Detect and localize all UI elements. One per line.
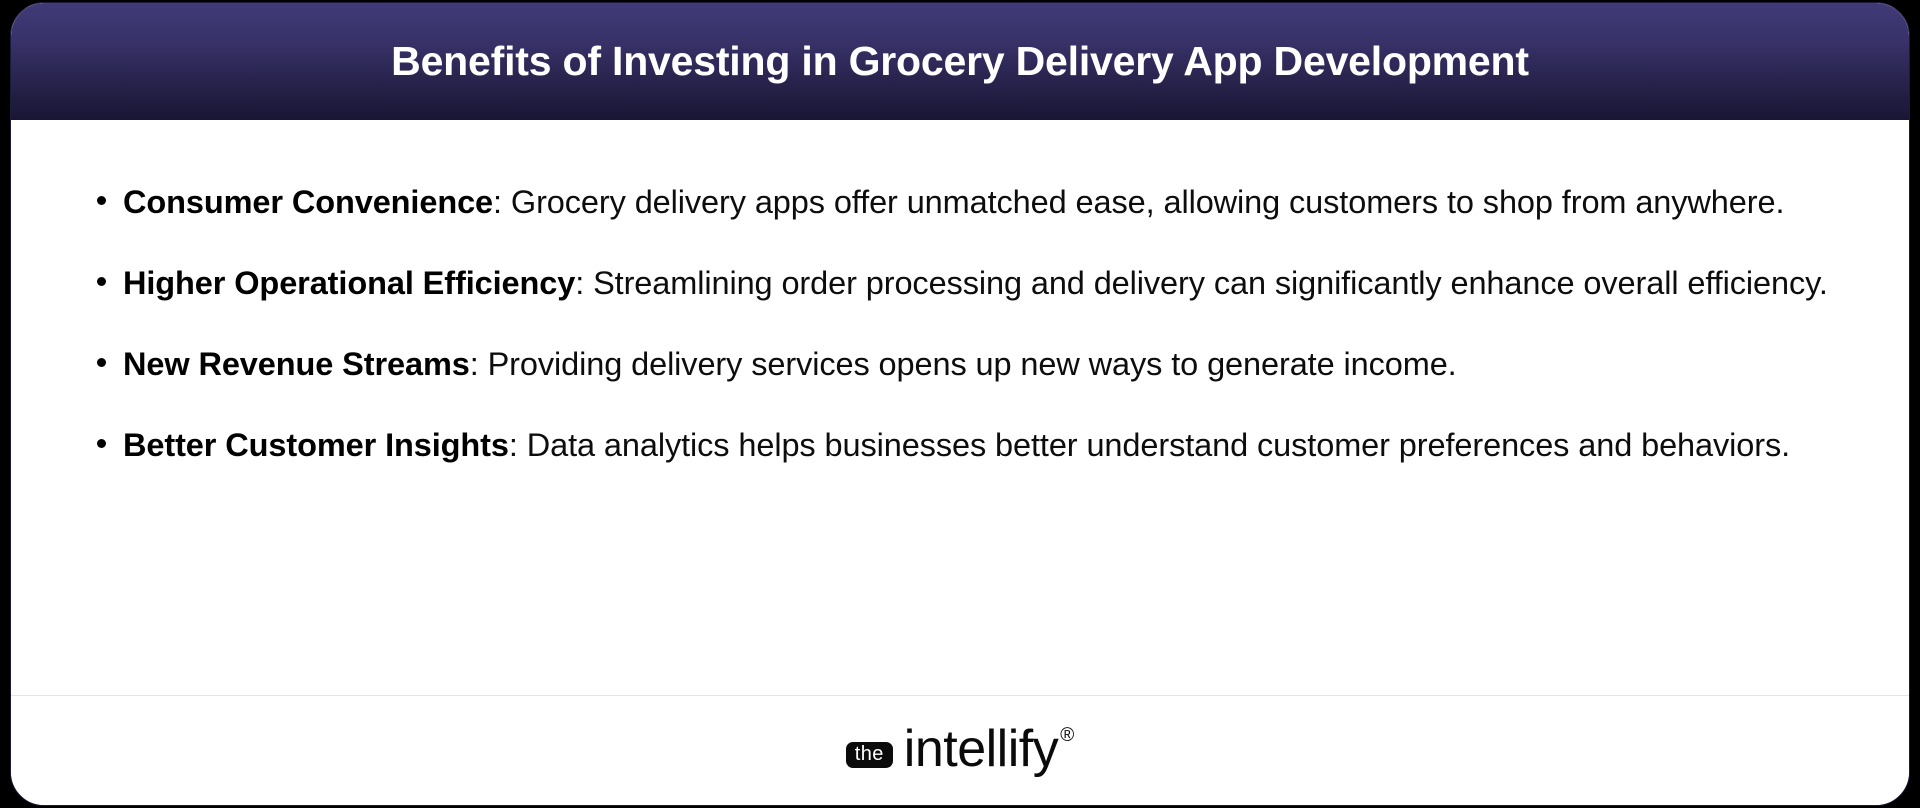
bullet-dot-icon	[97, 439, 106, 448]
content-area: Consumer Convenience: Grocery delivery a…	[11, 120, 1909, 695]
bullet-text: Data analytics helps businesses better u…	[527, 427, 1790, 463]
list-item: Better Customer Insights: Data analytics…	[97, 425, 1839, 466]
bullet-term: Better Customer Insights	[123, 427, 509, 463]
benefits-bullet-list: Consumer Convenience: Grocery delivery a…	[11, 182, 1909, 466]
bullet-separator: :	[470, 346, 488, 382]
list-item: Consumer Convenience: Grocery delivery a…	[97, 182, 1839, 223]
slide-card: Benefits of Investing in Grocery Deliver…	[10, 2, 1910, 806]
page-title: Benefits of Investing in Grocery Deliver…	[331, 38, 1589, 85]
bullet-text: Providing delivery services opens up new…	[488, 346, 1457, 382]
bullet-dot-icon	[97, 358, 106, 367]
logo-wordmark: intellify	[904, 723, 1058, 775]
bullet-separator: :	[509, 427, 527, 463]
registered-trademark-icon: ®	[1060, 726, 1074, 745]
bullet-term: New Revenue Streams	[123, 346, 470, 382]
bullet-term: Higher Operational Efficiency	[123, 265, 575, 301]
bullet-text: Grocery delivery apps offer unmatched ea…	[511, 184, 1784, 220]
logo-the-badge: the	[846, 742, 893, 768]
bullet-dot-icon	[97, 196, 106, 205]
bullet-dot-icon	[97, 277, 106, 286]
bullet-text: Streamlining order processing and delive…	[593, 265, 1828, 301]
header-bar: Benefits of Investing in Grocery Deliver…	[11, 3, 1909, 120]
intellify-logo: the intellify ®	[846, 723, 1074, 775]
bullet-separator: :	[493, 184, 511, 220]
list-item: Higher Operational Efficiency: Streamlin…	[97, 263, 1839, 304]
list-item: New Revenue Streams: Providing delivery …	[97, 344, 1839, 385]
bullet-separator: :	[575, 265, 593, 301]
bullet-term: Consumer Convenience	[123, 184, 493, 220]
footer-bar: the intellify ®	[11, 695, 1909, 805]
